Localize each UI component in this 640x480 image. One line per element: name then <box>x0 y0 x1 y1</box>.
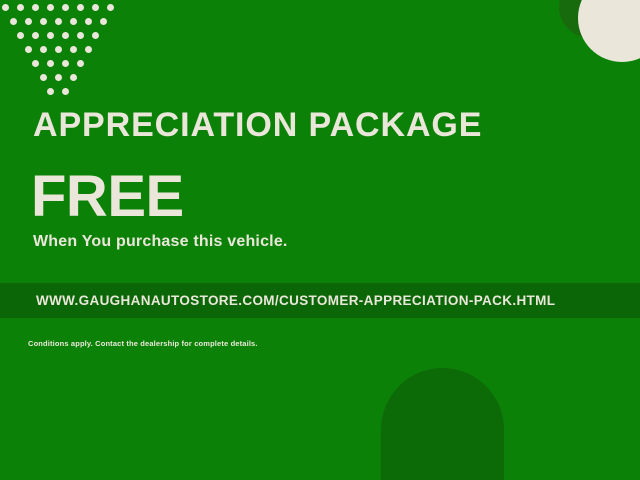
poster-content: APPRECIATION PACKAGE FREE When You purch… <box>0 0 640 480</box>
page-title: APPRECIATION PACKAGE <box>33 105 482 145</box>
offer-condition-text: When You purchase this vehicle. <box>33 232 288 252</box>
disclaimer-text: Conditions apply. Contact the dealership… <box>28 339 258 349</box>
url-band[interactable]: WWW.GAUGHANAUTOSTORE.COM/CUSTOMER-APPREC… <box>0 283 640 318</box>
offer-value: FREE <box>31 167 184 227</box>
website-url[interactable]: WWW.GAUGHANAUTOSTORE.COM/CUSTOMER-APPREC… <box>0 293 555 309</box>
promotional-poster: APPRECIATION PACKAGE FREE When You purch… <box>0 0 640 480</box>
